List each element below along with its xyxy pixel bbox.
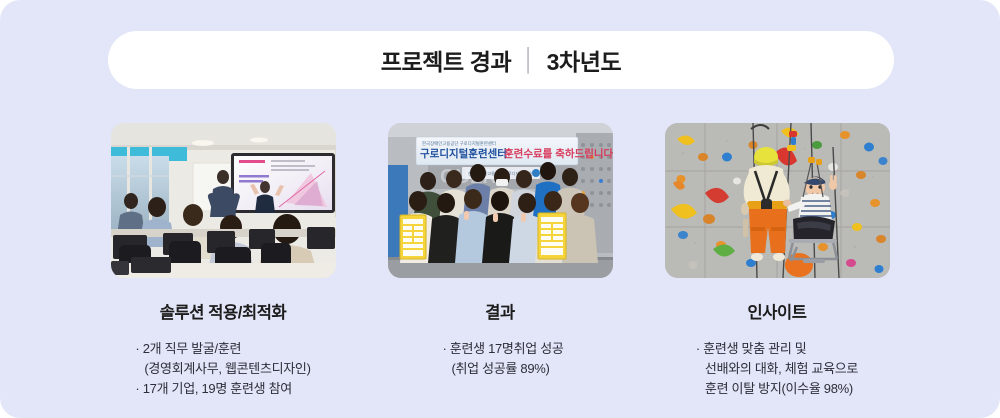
bullet-text: 선배와의 대화, 체험 교육으로 <box>705 361 858 376</box>
column-bullets: · 2개 직무 발굴/훈련 (경영회계사무, 웹콘텐츠디자인) · 17개 기업… <box>135 339 310 399</box>
page-title: 프로젝트 경과 │ 3차년도 <box>381 43 622 77</box>
bullet-text: 훈련생 맞춤 관리 및 <box>703 341 806 356</box>
bullet-line: (취업 성공률 89%) <box>442 359 563 379</box>
bullet-line: (경영회계사무, 웹콘텐츠디자인) <box>135 359 310 379</box>
bullet-text: 17개 기업, 19명 훈련생 참여 <box>143 381 292 396</box>
svg-text:한국장애인고용공단 구로디지털훈련센터: 한국장애인고용공단 구로디지털훈련센터 <box>422 140 496 147</box>
column-bullets: · 훈련생 맞춤 관리 및 선배와의 대화, 체험 교육으로 훈련 이탈 방지(… <box>696 339 858 399</box>
bullet-marker: · <box>696 341 700 356</box>
svg-text:훈련수료를 축하드립니다: 훈련수료를 축하드립니다 <box>504 147 613 160</box>
slide-canvas: 프로젝트 경과 │ 3차년도 <box>0 0 1000 418</box>
bullet-line: · 2개 직무 발굴/훈련 <box>135 339 310 359</box>
title-left-segment: 프로젝트 경과 <box>381 43 512 77</box>
column-result: GULRO 한국장애인고용공단 구로디지털훈련센터 구로디지털훈련센터 훈련수료… <box>388 123 613 399</box>
bullet-line: · 훈련생 17명취업 성공 <box>442 339 563 359</box>
bullet-line: 훈련 이탈 방지(이수율 98%) <box>696 379 858 399</box>
bullet-marker: · <box>135 341 139 356</box>
bullet-text: (취업 성공률 89%) <box>451 361 549 376</box>
title-pill: 프로젝트 경과 │ 3차년도 <box>108 31 894 89</box>
column-bullets: · 훈련생 17명취업 성공 (취업 성공률 89%) <box>442 339 563 379</box>
column-solution: 솔루션 적용/최적화 · 2개 직무 발굴/훈련 (경영회계사무, 웹콘텐츠디자… <box>111 123 336 399</box>
bullet-marker: · <box>442 341 446 356</box>
bullet-text: 훈련 이탈 방지(이수율 98%) <box>705 381 853 396</box>
svg-text:구로디지털훈련센터: 구로디지털훈련센터 <box>420 147 507 160</box>
column-heading: 솔루션 적용/최적화 <box>160 299 287 323</box>
title-right-segment: 3차년도 <box>547 43 622 77</box>
bullet-line: · 17개 기업, 19명 훈련생 참여 <box>135 379 310 399</box>
graduation-group-photo: GULRO 한국장애인고용공단 구로디지털훈련센터 구로디지털훈련센터 훈련수료… <box>388 123 613 278</box>
training-classroom-photo <box>111 123 336 278</box>
bullet-text: (경영회계사무, 웹콘텐츠디자인) <box>144 361 310 376</box>
content-columns: 솔루션 적용/최적화 · 2개 직무 발굴/훈련 (경영회계사무, 웹콘텐츠디자… <box>0 123 1000 399</box>
title-divider: │ <box>522 47 535 73</box>
column-heading: 인사이트 <box>747 299 806 323</box>
bullet-marker: · <box>135 381 139 396</box>
bullet-text: 훈련생 17명취업 성공 <box>450 341 564 356</box>
bullet-line: 선배와의 대화, 체험 교육으로 <box>696 359 858 379</box>
column-heading: 결과 <box>485 299 515 323</box>
column-insight: 인사이트 · 훈련생 맞춤 관리 및 선배와의 대화, 체험 교육으로 훈련 이… <box>665 123 890 399</box>
bullet-text: 2개 직무 발굴/훈련 <box>143 341 242 356</box>
climbing-wall-activity-photo <box>665 123 890 278</box>
bullet-line: · 훈련생 맞춤 관리 및 <box>696 339 858 359</box>
